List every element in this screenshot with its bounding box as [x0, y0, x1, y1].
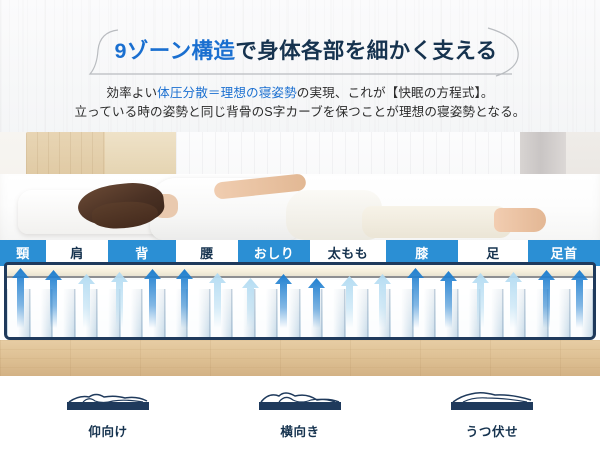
zone-tab-label: 足首 — [550, 247, 577, 260]
zone-tab-label: 太もも — [328, 247, 369, 260]
sleeping-position-label: 横向き — [280, 421, 319, 440]
title-accent-text: 9ゾーン構造 — [115, 34, 236, 65]
arrow-up-icon — [45, 270, 62, 328]
zone-tab-label: おしり — [254, 247, 295, 260]
support-arrow-11 — [333, 262, 366, 328]
sleeping-position-label: うつ伏せ — [466, 421, 518, 440]
arrow-up-icon — [571, 270, 588, 328]
support-arrow-18 — [563, 262, 596, 328]
wooden-headboard-panel — [105, 132, 183, 178]
sleeping-position-2: 横向き — [252, 384, 348, 446]
subtitle-line1-a: 効率よい — [106, 86, 157, 100]
person-feet — [494, 208, 546, 232]
support-arrow-1 — [4, 262, 37, 328]
support-arrow-12 — [366, 262, 399, 328]
arrow-up-icon — [505, 272, 522, 328]
arrow-up-icon — [407, 268, 424, 328]
support-arrow-10 — [300, 262, 333, 328]
arrow-up-icon — [308, 278, 325, 328]
zone-tab-label: 膝 — [415, 247, 429, 260]
arrow-up-icon — [374, 274, 391, 328]
side-sleep-icon — [255, 384, 345, 414]
support-arrow-14 — [432, 262, 465, 328]
arrow-up-icon — [538, 270, 555, 328]
support-arrow-4 — [103, 262, 136, 328]
sleeping-position-label: 仰向け — [88, 421, 127, 440]
zone-tab-label: 足 — [486, 247, 500, 260]
arrow-up-icon — [209, 273, 226, 328]
support-arrow-row — [4, 262, 596, 340]
arrow-up-icon — [275, 274, 292, 328]
wooden-floor — [0, 340, 600, 376]
subtitle-line1-b: の実現、これが【快眠の方程式】。 — [297, 86, 494, 100]
subtitle-line1-highlight: 体圧分散＝理想の寝姿勢 — [157, 86, 297, 100]
prone-sleep-icon — [447, 384, 537, 414]
arrow-up-icon — [111, 272, 128, 328]
zone-tab-label: 腰 — [200, 247, 214, 260]
arrow-up-icon — [472, 273, 489, 328]
sleeping-position-1: 仰向け — [60, 384, 156, 446]
subtitle-line-2: 立っている時の姿勢と同じ背骨のS字カーブを保つことが理想の寝姿勢となる。 — [0, 103, 600, 122]
support-arrow-16 — [497, 262, 530, 328]
support-arrow-15 — [464, 262, 497, 328]
support-arrow-8 — [234, 262, 267, 328]
arrow-up-icon — [440, 271, 457, 328]
arrow-up-icon — [242, 278, 259, 328]
mattress-cross-section — [0, 262, 600, 344]
arrow-up-icon — [176, 269, 193, 328]
arrow-up-icon — [341, 276, 358, 328]
title-bracket: 9ゾーン構造で身体各部を細かく支える — [88, 22, 524, 82]
person-legs — [362, 206, 512, 238]
subtitle-line-1: 効率よい体圧分散＝理想の寝姿勢の実現、これが【快眠の方程式】。 — [0, 84, 600, 103]
arrow-up-icon — [144, 269, 161, 328]
support-arrow-7 — [201, 262, 234, 328]
page-title: 9ゾーン構造で身体各部を細かく支える — [88, 22, 524, 76]
support-arrow-2 — [37, 262, 70, 328]
support-arrow-17 — [530, 262, 563, 328]
support-arrow-3 — [70, 262, 103, 328]
arrow-up-icon — [12, 268, 29, 328]
sleeping-positions-row: 仰向け横向きうつ伏せ — [0, 384, 600, 446]
promo-banner: 9ゾーン構造で身体各部を細かく支える 効率よい体圧分散＝理想の寝姿勢の実現、これ… — [0, 0, 600, 450]
sleeping-position-3: うつ伏せ — [444, 384, 540, 446]
title-main-text: で身体各部を細かく支える — [235, 34, 497, 65]
support-arrow-5 — [136, 262, 169, 328]
supine-sleep-icon — [63, 384, 153, 414]
zone-tab-label: 頸 — [16, 247, 30, 260]
support-arrow-13 — [399, 262, 432, 328]
support-arrow-9 — [267, 262, 300, 328]
zone-tab-label: 背 — [135, 247, 149, 260]
zone-tab-label: 肩 — [70, 247, 84, 260]
subtitle-block: 効率よい体圧分散＝理想の寝姿勢の実現、これが【快眠の方程式】。 立っている時の姿… — [0, 84, 600, 121]
arrow-up-icon — [78, 274, 95, 328]
support-arrow-6 — [168, 262, 201, 328]
